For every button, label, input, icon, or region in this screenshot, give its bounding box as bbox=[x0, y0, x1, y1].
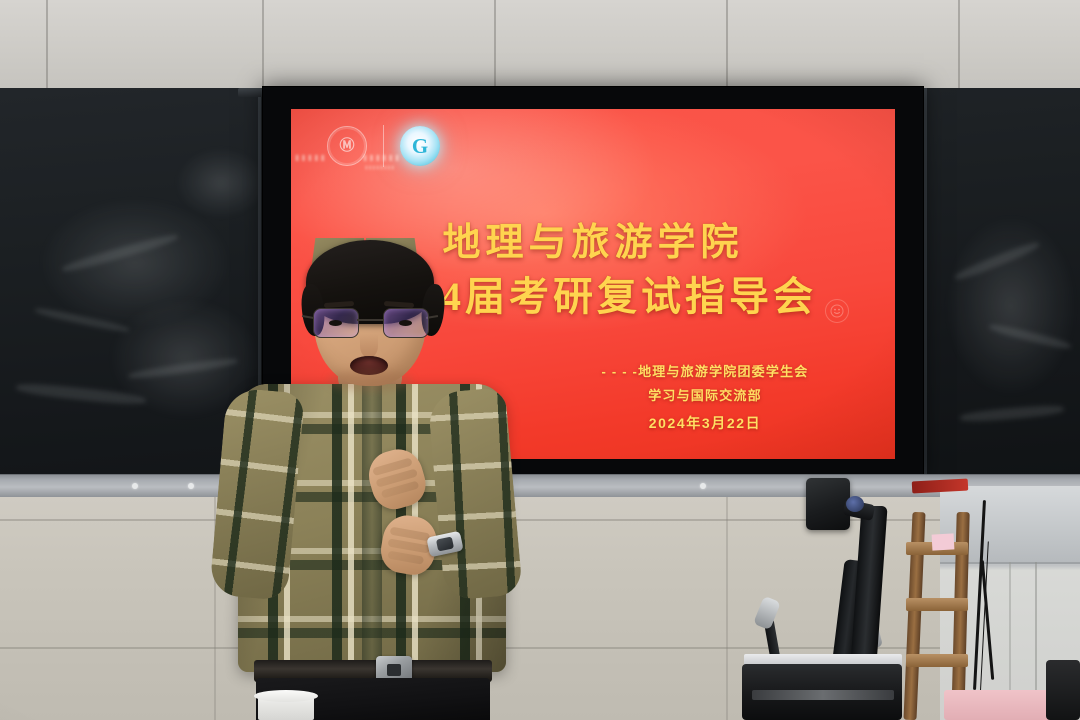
right-arm bbox=[427, 387, 523, 601]
slide-footer-line-1: - - - -地理与旅游学院团委学生会 bbox=[555, 360, 855, 385]
slide-footer-block: - - - -地理与旅游学院团委学生会 学习与国际交流部 2024年3月22日 bbox=[555, 360, 855, 437]
university-seal-logo: Ⓜ bbox=[327, 126, 367, 166]
nose bbox=[360, 334, 378, 358]
smiley-face-icon bbox=[825, 299, 849, 323]
g-glyph: G bbox=[412, 136, 428, 157]
wooden-chair bbox=[902, 512, 978, 720]
institute-g-logo: G bbox=[400, 126, 440, 166]
board-bracket bbox=[238, 88, 264, 97]
dark-object-bottom-right bbox=[1046, 660, 1080, 720]
chin-shadow bbox=[328, 370, 412, 392]
document-camera-lens-icon bbox=[846, 496, 864, 512]
seal-glyph: Ⓜ bbox=[339, 139, 354, 154]
g-logo-caption: ▮▮▮▮▮▮ bbox=[363, 153, 401, 162]
upper-wall bbox=[0, 0, 1080, 92]
classroom-presentation-photo: Ⓜ G ▮▮▮▮▮ ▮▮▮▮▮▮ ▮▮▮▮▮▮▮▮ 地理与旅游学院 2024届考… bbox=[0, 0, 1080, 720]
speaker-person bbox=[232, 238, 512, 720]
document-camera-head[interactable] bbox=[806, 478, 850, 530]
g-logo-subcaption: ▮▮▮▮▮▮▮▮ bbox=[365, 165, 395, 171]
slide-footer-line-2: 学习与国际交流部 bbox=[555, 384, 855, 409]
white-cup-lid bbox=[254, 690, 318, 702]
chair-sticky-note bbox=[932, 533, 955, 550]
pink-tray bbox=[944, 690, 1054, 720]
seal-caption: ▮▮▮▮▮ bbox=[295, 153, 327, 162]
slide-footer-date: 2024年3月22日 bbox=[555, 409, 855, 437]
